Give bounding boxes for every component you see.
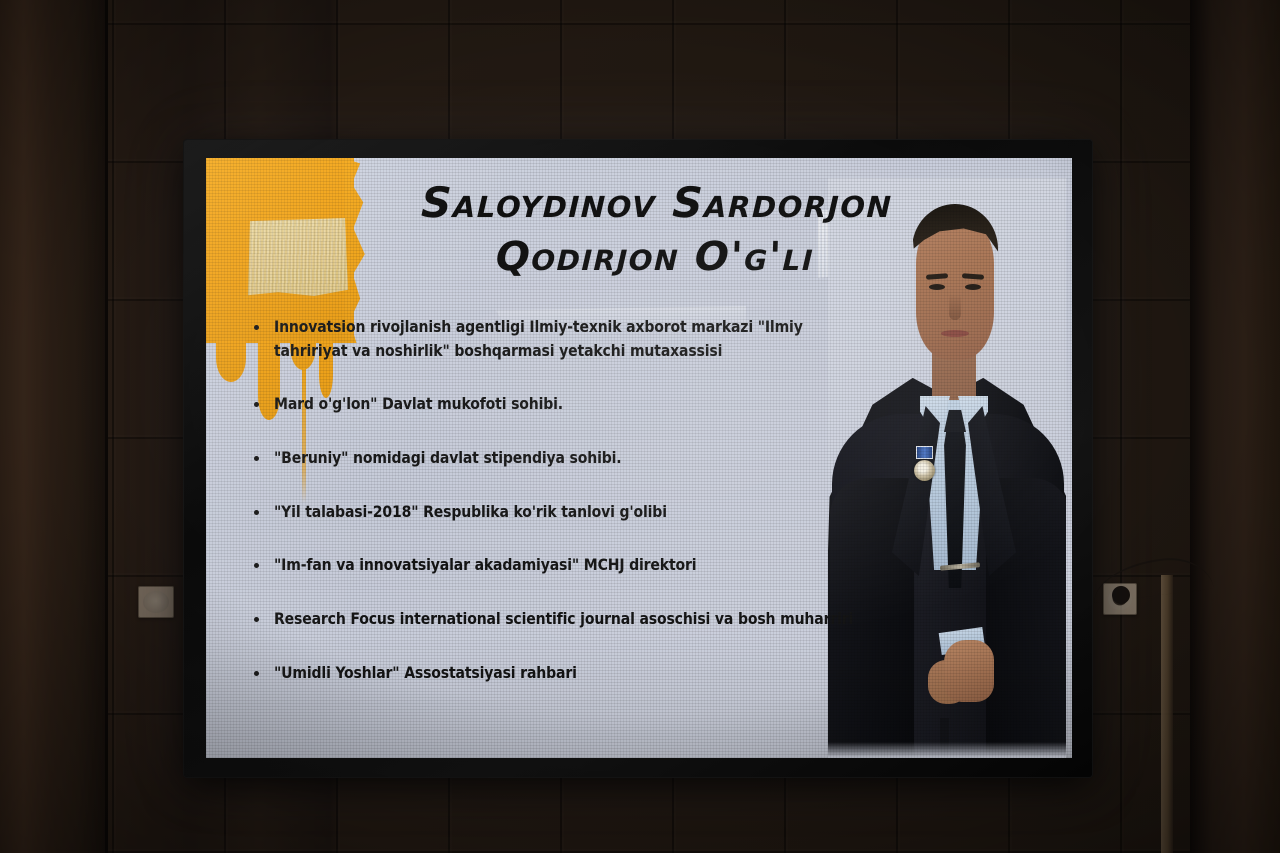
title-line-1: Saloydinov Sardorjon: [306, 176, 1008, 231]
screen-display-area: Saloydinov Sardorjon Qodirjon o'g'li Inn…: [206, 158, 1072, 758]
medal-ribbon-icon: [916, 446, 933, 459]
list-item: "Im-fan va innovatsiyalar akadamiyasi" M…: [248, 554, 868, 578]
wall-left-column: [0, 0, 108, 853]
title-line-2: Qodirjon o'g'li: [304, 231, 1006, 283]
list-item: "Beruniy" nomidagi davlat stipendiya soh…: [248, 447, 868, 471]
paint-drip: [216, 340, 246, 382]
list-item: "Umidli Yoshlar" Assostatsiyasi rahbari: [248, 662, 868, 686]
medal-star-icon: [914, 460, 935, 481]
nose: [949, 294, 961, 320]
list-item: Innovatsion rivojlanish agentligi Ilmiy-…: [248, 316, 868, 363]
door-frame-edge: [1161, 575, 1173, 853]
eye-left: [929, 284, 945, 290]
list-item: "Yil talabasi-2018" Respublika ko'rik ta…: [248, 501, 868, 525]
presentation-screen: Saloydinov Sardorjon Qodirjon o'g'li Inn…: [184, 140, 1092, 777]
black-power-plug: [1112, 586, 1130, 604]
wall-right-column: [1190, 0, 1280, 853]
wall-outlet-left: [138, 586, 174, 618]
list-item: Mard o'g'lon" Davlat mukofoti sohibi.: [248, 393, 868, 417]
slide-title: Saloydinov Sardorjon Qodirjon o'g'li: [304, 176, 1008, 283]
photo-bottom-fade: [828, 742, 1066, 758]
eye-right: [965, 284, 981, 290]
achievements-list: Innovatsion rivojlanish agentligi Ilmiy-…: [248, 316, 868, 686]
list-item: Research Focus international scientific …: [248, 608, 868, 632]
mouth: [941, 330, 969, 337]
outlet-face-icon: [143, 591, 169, 613]
slide-canvas: Saloydinov Sardorjon Qodirjon o'g'li Inn…: [206, 158, 1072, 758]
hand-front: [944, 640, 994, 702]
conference-room-scene: Saloydinov Sardorjon Qodirjon o'g'li Inn…: [0, 0, 1280, 853]
